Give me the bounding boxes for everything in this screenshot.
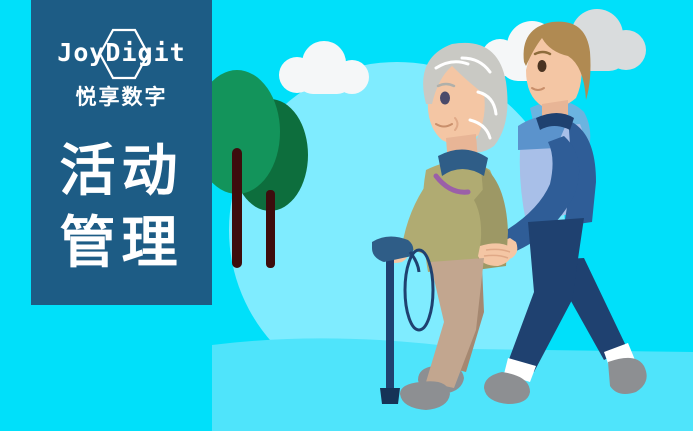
poster-canvas: JoyDigit 悦享数字 活动 管理 bbox=[0, 0, 693, 431]
page-title-line-2: 管理 bbox=[31, 208, 212, 280]
brand-logo: JoyDigit 悦享数字 bbox=[31, 26, 212, 122]
illustration-elderly-care bbox=[212, 0, 693, 431]
title-panel: JoyDigit 悦享数字 活动 管理 bbox=[31, 0, 212, 305]
man-eye bbox=[538, 60, 547, 72]
cloud-left-icon bbox=[279, 41, 369, 94]
page-title-line-1: 活动 bbox=[60, 139, 184, 204]
woman-eye bbox=[440, 92, 450, 105]
brand-name: JoyDigit bbox=[31, 36, 212, 70]
page-title: 活动 管理 bbox=[31, 136, 212, 280]
brand-name-cn: 悦享数字 bbox=[31, 82, 212, 112]
